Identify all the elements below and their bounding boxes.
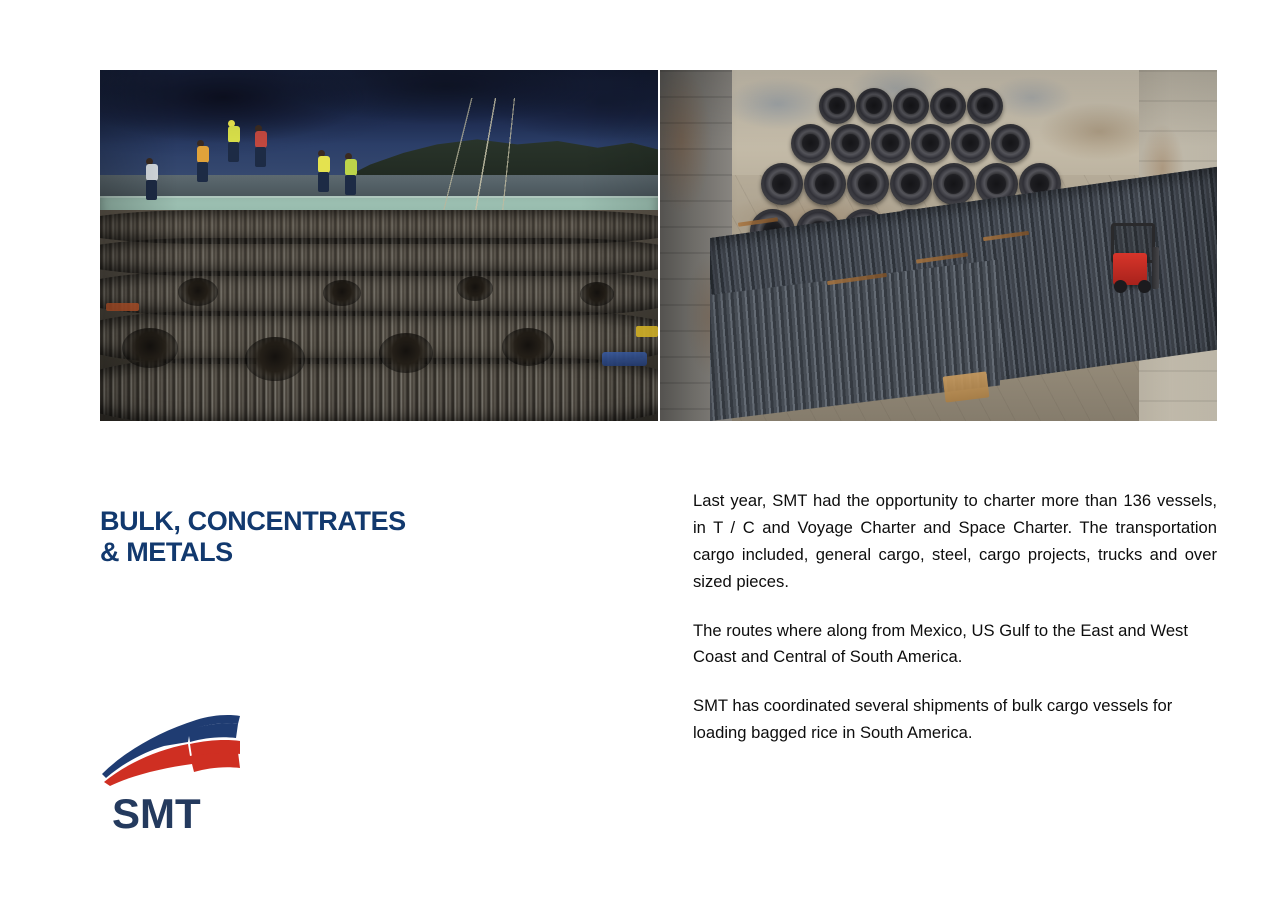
slide-root: NO SMOKING	[0, 0, 1287, 915]
red-forklift	[1103, 223, 1161, 295]
paragraph-3: SMT has coordinated several shipments of…	[693, 693, 1217, 747]
coil-stack-row	[738, 88, 1083, 124]
coil-stack-row	[738, 124, 1083, 163]
coil-eye	[379, 333, 433, 373]
smt-wordmark: SMT	[112, 790, 201, 838]
photo-band: NO SMOKING	[100, 70, 1217, 421]
blue-tarpaulin	[602, 352, 647, 367]
photo-right-hold-coils-forklift	[660, 70, 1217, 421]
orange-dunnage	[106, 303, 139, 311]
photo-left-deck-coils: NO SMOKING	[100, 70, 658, 421]
forklift-wheel	[1114, 280, 1127, 293]
paragraph-2: The routes where along from Mexico, US G…	[693, 618, 1217, 672]
wire-rod-coil-stacks	[100, 210, 658, 421]
coil-eye	[502, 328, 554, 366]
smt-swoosh-icon	[100, 712, 250, 792]
page-title-line-1: BULK, CONCENTRATES	[100, 506, 406, 536]
body-copy: Last year, SMT had the opportunity to ch…	[693, 488, 1217, 747]
coil-eye	[323, 280, 361, 306]
yellow-equipment	[636, 326, 658, 337]
coil-eye	[178, 278, 218, 306]
coil-row	[100, 238, 658, 276]
page-title: BULK, CONCENTRATES & METALS	[100, 506, 600, 569]
coil-eye	[245, 337, 305, 381]
forklift-mast	[1152, 247, 1159, 289]
paragraph-1: Last year, SMT had the opportunity to ch…	[693, 488, 1217, 596]
coil-eye	[457, 276, 493, 301]
coil-eye	[580, 282, 614, 306]
cardboard-sheet	[943, 371, 990, 402]
page-title-line-2: & METALS	[100, 537, 600, 568]
coil-row	[100, 358, 658, 421]
smt-logo: SMT	[100, 712, 250, 852]
forklift-wheel	[1138, 280, 1151, 293]
